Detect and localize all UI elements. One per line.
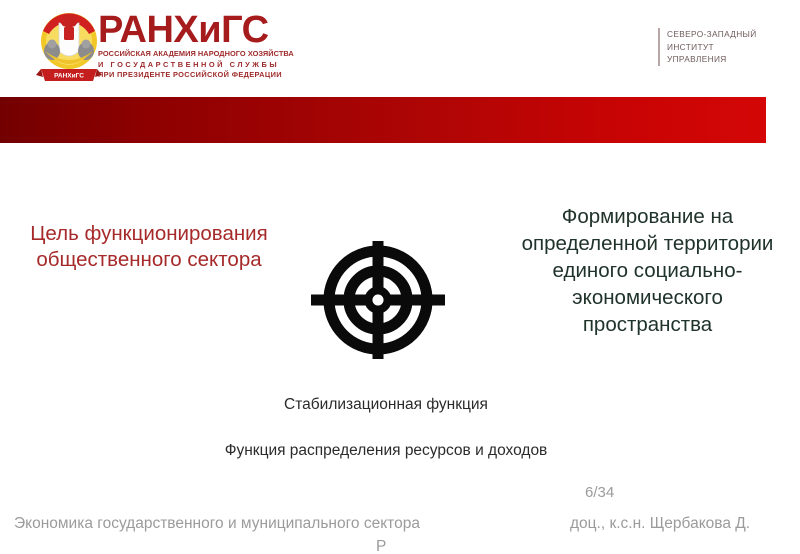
left-concept-title: Цель функционирования общественного сект…: [14, 221, 284, 273]
institute-name-block: СЕВЕРО-ЗАПАДНЫЙ ИНСТИТУТ УПРАВЛЕНИЯ: [658, 28, 757, 66]
crosshair-target-icon: [311, 241, 445, 359]
wordmark-subtitle-line-3: ПРИ ПРЕЗИДЕНТЕ РОССИЙСКОЙ ФЕДЕРАЦИИ: [98, 70, 278, 81]
emblem-ribbon-text: РАНХиГС: [54, 73, 84, 80]
right-concept-title: Формирование на определенной территории …: [505, 203, 790, 338]
ranepa-coat-of-arms-icon: РАНХиГС: [33, 7, 105, 87]
wordmark-subtitle-line-2: И ГОСУДАРСТВЕННОЙ СЛУЖБЫ: [98, 60, 278, 71]
slide-header: РАНХиГС РАНХиГС РОССИЙСКАЯ АКАДЕМИЯ НАРО…: [0, 0, 800, 97]
function-stabilization-text: Стабилизационная функция: [186, 395, 586, 415]
institute-line-1: СЕВЕРО-ЗАПАДНЫЙ: [667, 28, 757, 41]
institute-line-3: УПРАВЛЕНИЯ: [667, 53, 757, 66]
footer-author: доц., к.с.н. Щербакова Д.: [570, 515, 750, 533]
footer-cutoff-text: Р: [376, 538, 386, 554]
institute-line-2: ИНСТИТУТ: [667, 41, 757, 54]
footer-course-title: Экономика государственного и муниципальн…: [14, 515, 420, 533]
function-distribution-text: Функция распределения ресурсов и доходов: [186, 440, 586, 461]
ranepa-wordmark: РАНХиГС РОССИЙСКАЯ АКАДЕМИЯ НАРОДНОГО ХО…: [98, 11, 278, 81]
presentation-slide: РАНХиГС РАНХиГС РОССИЙСКАЯ АКАДЕМИЯ НАРО…: [0, 0, 800, 554]
page-number: 6/34: [585, 484, 614, 501]
wordmark-main-text: РАНХиГС: [98, 11, 278, 49]
red-gradient-band: [0, 97, 766, 143]
wordmark-subtitle-line-1: РОССИЙСКАЯ АКАДЕМИЯ НАРОДНОГО ХОЗЯЙСТВА: [98, 49, 278, 60]
